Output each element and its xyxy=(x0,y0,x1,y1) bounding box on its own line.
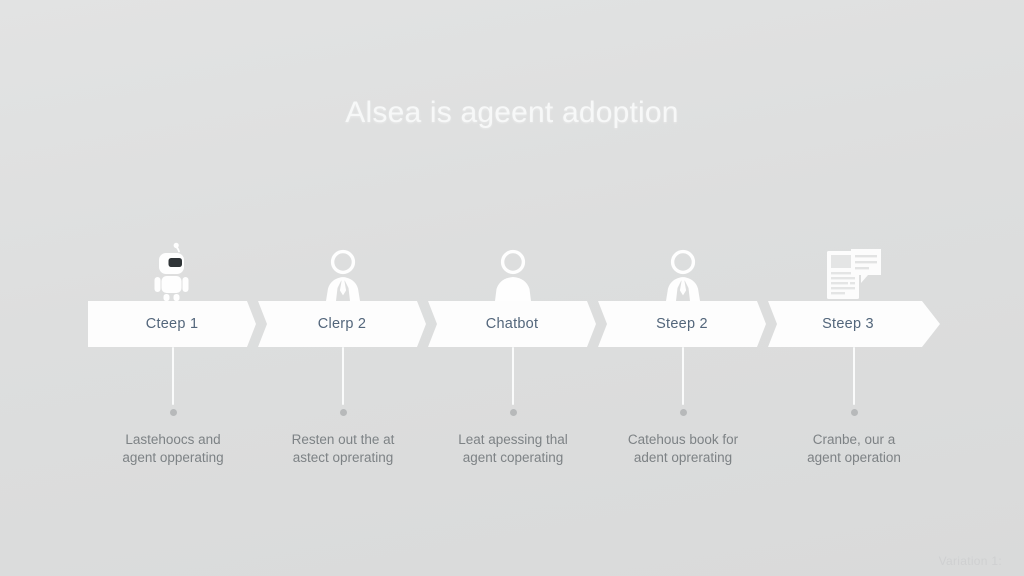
caption-line-1b: agent opperating xyxy=(122,449,223,467)
connector-line-1 xyxy=(172,347,174,405)
caption-line-4b: adent oprerating xyxy=(628,449,738,467)
document-chat-icon xyxy=(825,247,883,301)
step-caption-5: Cranbe, our a agent operation xyxy=(768,347,940,467)
chevron-segment-1[interactable]: Cteep 1 xyxy=(88,301,256,347)
chevron-label-5: Steep 3 xyxy=(822,316,874,332)
step-caption-2: Resten out the at astect oprerating xyxy=(258,347,428,467)
connector-line-5 xyxy=(853,347,855,405)
caption-line-2a: Resten out the at xyxy=(292,431,395,449)
step-icon-3 xyxy=(428,243,598,301)
step-caption-3: Leat apessing thal agent coperating xyxy=(428,347,598,467)
connector-line-2 xyxy=(342,347,344,405)
chevron-label-2: Clerp 2 xyxy=(318,316,367,332)
caption-line-3b: agent coperating xyxy=(458,449,568,467)
process-chevron-bar: Cteep 1 Clerp 2 Chatbot Steep 2 Steep 3 xyxy=(88,301,940,347)
step-caption-4: Catehous book for adent oprerating xyxy=(598,347,768,467)
connector-line-4 xyxy=(682,347,684,405)
step-caption-row: Lastehoocs and agent opperating Resten o… xyxy=(88,347,940,487)
step-icon-2 xyxy=(258,243,428,301)
step-caption-1: Lastehoocs and agent opperating xyxy=(88,347,258,467)
caption-line-1a: Lastehoocs and xyxy=(122,431,223,449)
connector-dot-3 xyxy=(510,409,517,416)
caption-text-3: Leat apessing thal agent coperating xyxy=(458,431,568,467)
slide-canvas: Alsea is ageent adoption xyxy=(0,0,1024,576)
connector-dot-1 xyxy=(170,409,177,416)
caption-line-5a: Cranbe, our a xyxy=(807,431,901,449)
variation-watermark: Variation 1: xyxy=(939,554,1002,568)
caption-line-4a: Catehous book for xyxy=(628,431,738,449)
connector-line-3 xyxy=(512,347,514,405)
chevron-segment-3[interactable]: Chatbot xyxy=(428,301,596,347)
connector-dot-4 xyxy=(680,409,687,416)
chevron-label-1: Cteep 1 xyxy=(146,316,199,332)
step-icon-row xyxy=(88,243,940,301)
caption-line-2b: astect oprerating xyxy=(292,449,395,467)
connector-dot-5 xyxy=(851,409,858,416)
connector-dot-2 xyxy=(340,409,347,416)
person-tie-icon xyxy=(322,249,364,301)
step-icon-1 xyxy=(88,243,258,301)
caption-text-2: Resten out the at astect oprerating xyxy=(292,431,395,467)
chevron-label-4: Steep 2 xyxy=(656,316,708,332)
page-title: Alsea is ageent adoption xyxy=(0,96,1024,130)
caption-line-3a: Leat apessing thal xyxy=(458,431,568,449)
caption-text-4: Catehous book for adent oprerating xyxy=(628,431,738,467)
step-icon-4 xyxy=(598,243,768,301)
person-icon xyxy=(492,249,534,301)
person-tie-icon xyxy=(662,249,704,301)
step-icon-5 xyxy=(768,243,940,301)
robot-icon xyxy=(151,243,195,301)
chevron-segment-5[interactable]: Steep 3 xyxy=(768,301,940,347)
chevron-label-3: Chatbot xyxy=(486,316,539,332)
caption-text-5: Cranbe, our a agent operation xyxy=(807,431,901,467)
caption-line-5b: agent operation xyxy=(807,449,901,467)
chevron-segment-4[interactable]: Steep 2 xyxy=(598,301,766,347)
chevron-segment-2[interactable]: Clerp 2 xyxy=(258,301,426,347)
caption-text-1: Lastehoocs and agent opperating xyxy=(122,431,223,467)
